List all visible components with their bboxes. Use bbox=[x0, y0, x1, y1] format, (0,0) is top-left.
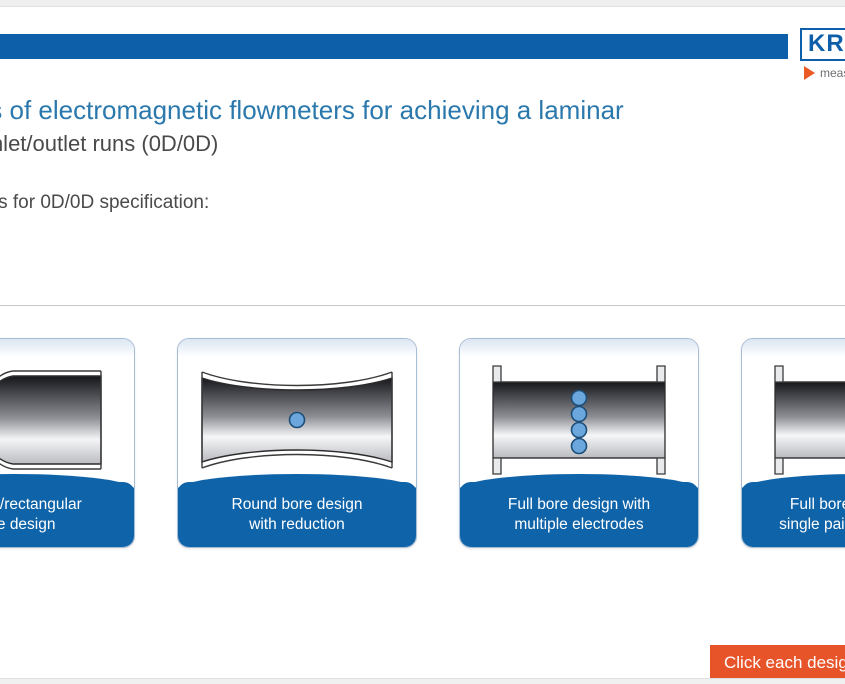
cta-label: Click each design for details bbox=[724, 653, 845, 673]
design-card-round-bore-with-reduction[interactable]: Round bore design with reduction bbox=[177, 338, 417, 548]
card-label-line1: Round bore design bbox=[232, 495, 363, 515]
card-label-conical-rectangular-bore: Conical/rectangular bore design bbox=[0, 482, 135, 548]
design-card-full-bore-multiple-electrodes[interactable]: Full bore design with multiple electrode… bbox=[459, 338, 699, 548]
full-bore-multi-electrode-figure bbox=[460, 353, 698, 487]
design-card-conical-rectangular-bore[interactable]: Conical/rectangular bore design bbox=[0, 338, 135, 548]
logo-tagline-row: measure the facts bbox=[800, 66, 845, 80]
click-each-design-button[interactable]: Click each design for details bbox=[710, 645, 845, 681]
card-label-full-bore-single-pair: Full bore design with single pair of ele… bbox=[741, 482, 845, 548]
card-label-round-bore-with-reduction: Round bore design with reduction bbox=[177, 482, 417, 548]
bottom-edge-strip bbox=[0, 678, 845, 684]
logo-tagline: measure the facts bbox=[820, 66, 845, 80]
krohne-logo: KROHNE measure the facts bbox=[800, 28, 845, 80]
round-bore-reduction-svg bbox=[192, 360, 402, 480]
electrode-dot bbox=[572, 407, 587, 422]
card-label-line2: with reduction bbox=[249, 515, 345, 535]
full-bore-multi-svg bbox=[479, 360, 679, 480]
card-label-line2: single pair of electrodes bbox=[779, 515, 845, 535]
page-title-line1: Installations of electromagnetic flowmet… bbox=[0, 96, 845, 126]
card-label-line2: multiple electrodes bbox=[514, 515, 643, 535]
header-blue-bar bbox=[0, 34, 788, 59]
conical-bore-figure bbox=[0, 353, 134, 487]
full-bore-single-pair-svg bbox=[761, 360, 845, 480]
full-bore-single-pair-figure bbox=[742, 353, 845, 487]
card-label-line2: bore design bbox=[0, 515, 56, 535]
section-divider bbox=[0, 305, 845, 306]
page-title-line2: flow without inlet/outlet runs (0D/0D) bbox=[0, 131, 845, 156]
electrode-dot bbox=[572, 391, 587, 406]
card-label-line1: Full bore design with bbox=[508, 495, 650, 515]
card-label-line1: Full bore design with bbox=[790, 495, 845, 515]
design-card-full-bore-single-pair[interactable]: Full bore design with single pair of ele… bbox=[741, 338, 845, 548]
top-edge-strip bbox=[0, 0, 845, 7]
electrode-dot bbox=[572, 423, 587, 438]
electrode-dot bbox=[572, 439, 587, 454]
design-card-list: Conical/rectangular bore design bbox=[0, 338, 845, 548]
logo-wordmark: KROHNE bbox=[808, 32, 845, 56]
logo-box: KROHNE bbox=[800, 28, 845, 61]
electrode-dot bbox=[290, 413, 305, 428]
triangle-right-icon bbox=[804, 66, 815, 80]
card-label-full-bore-multiple-electrodes: Full bore design with multiple electrode… bbox=[459, 482, 699, 548]
round-bore-reduction-figure bbox=[178, 353, 416, 487]
card-label-line1: Conical/rectangular bbox=[0, 495, 82, 515]
conical-bore-svg bbox=[0, 360, 125, 480]
lead-text: Possible designs for 0D/0D specification… bbox=[0, 192, 845, 214]
